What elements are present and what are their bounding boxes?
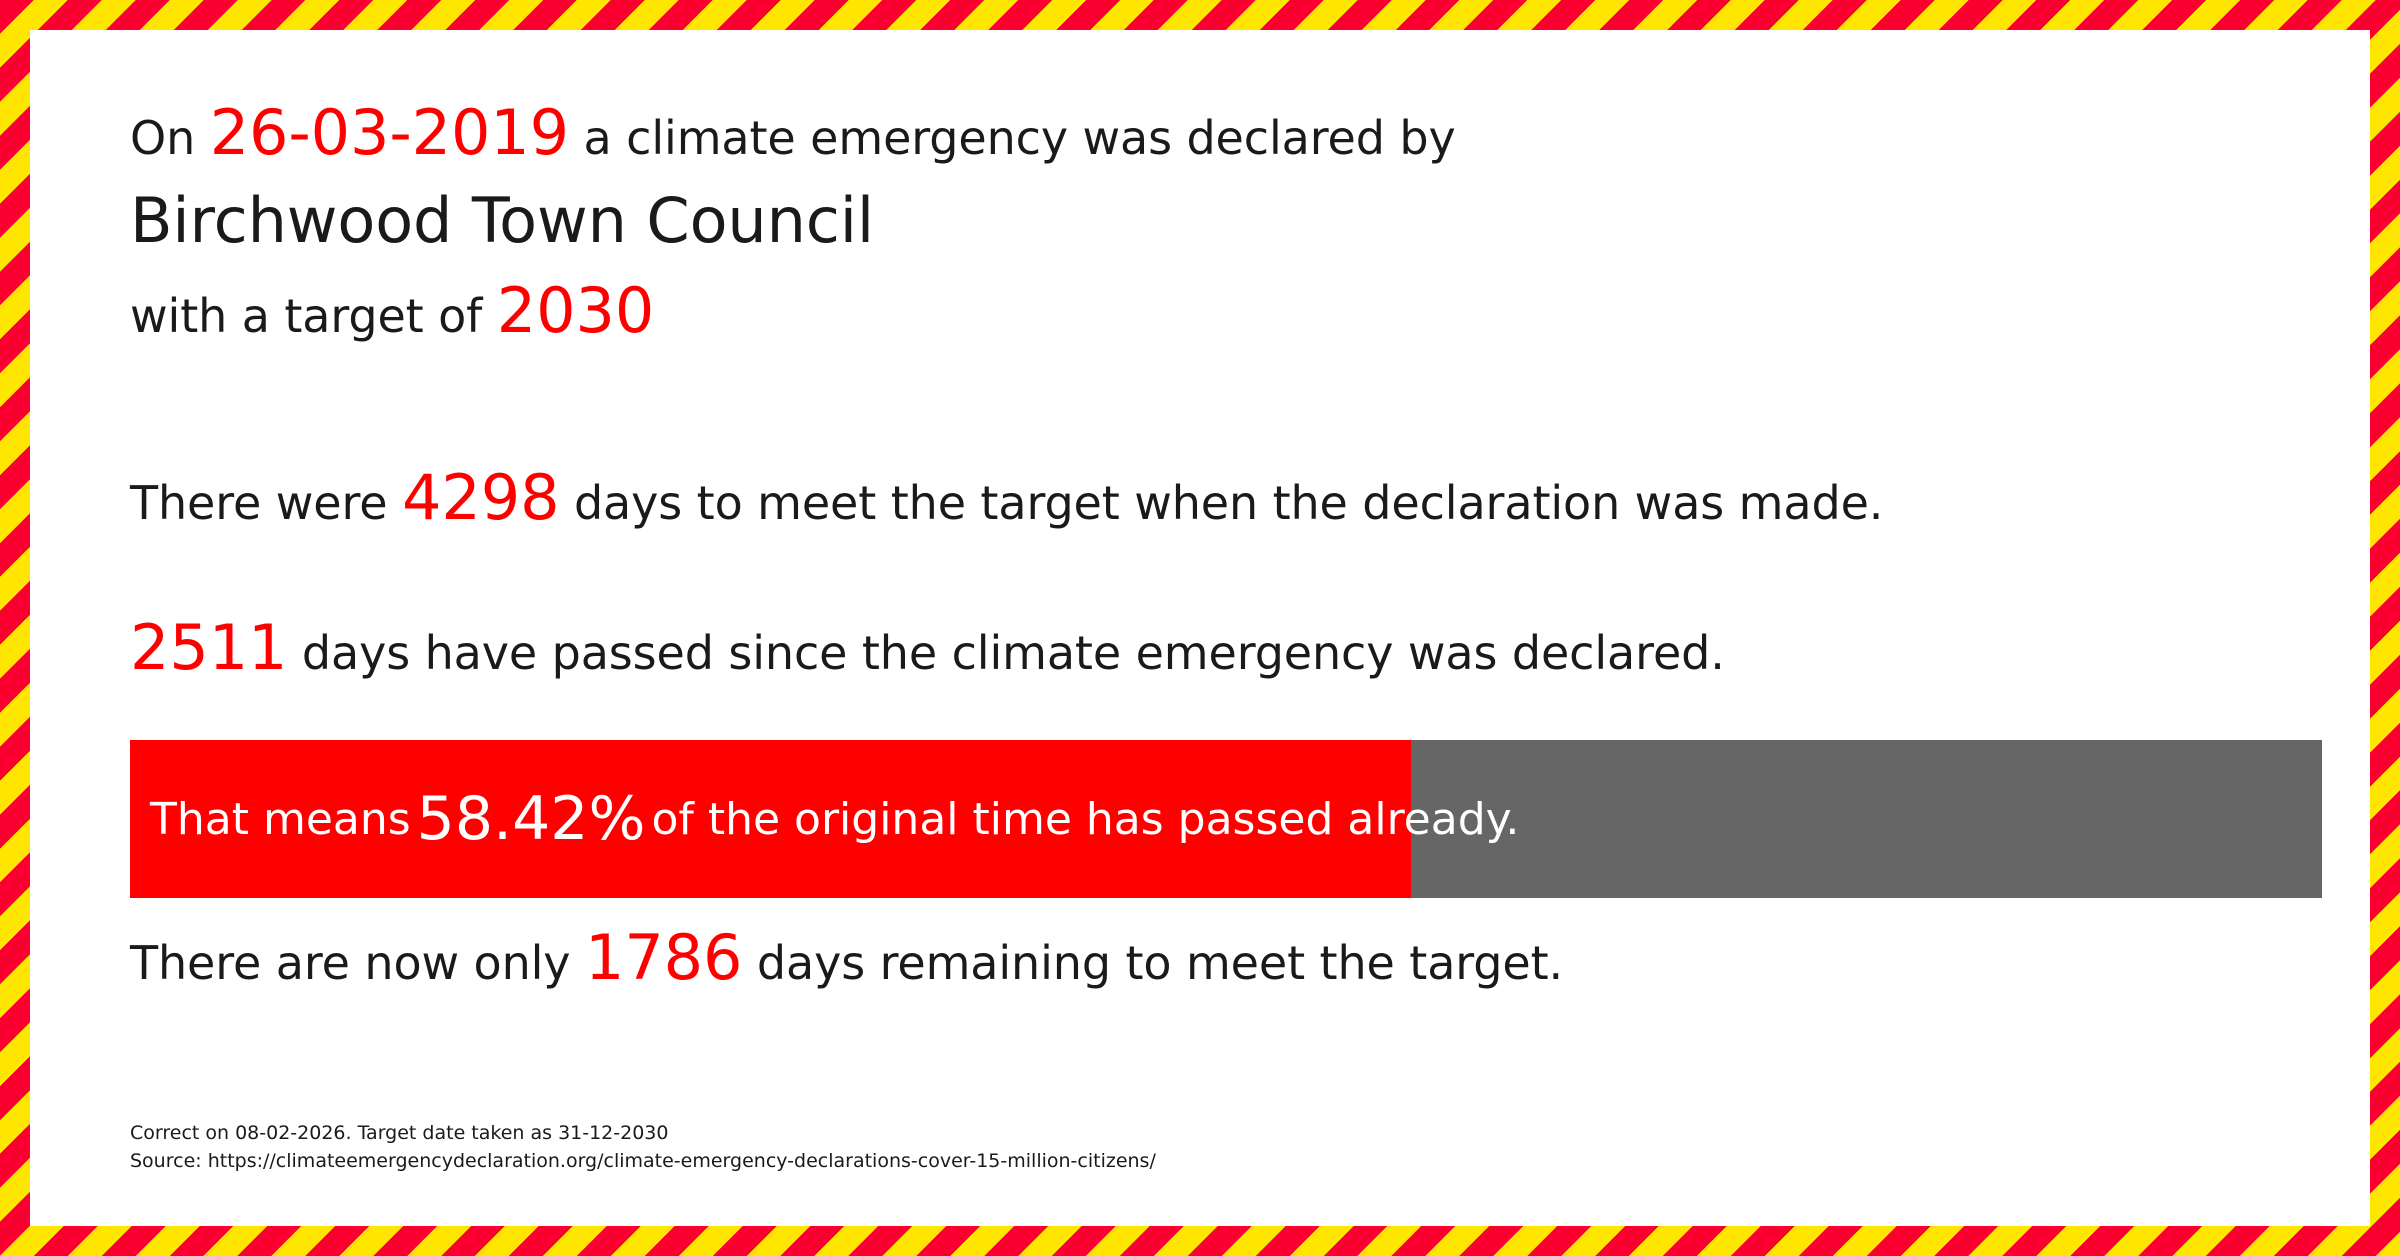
progress-bar-label: That means 58.42% of the original time h… [150, 740, 1519, 898]
original-days-suffix: days to meet the target when the declara… [559, 476, 1883, 530]
footer: Correct on 08-02-2026. Target date taken… [130, 1120, 1156, 1175]
footer-correct-on: Correct on 08-02-2026. Target date taken… [130, 1120, 1156, 1148]
footer-source: Source: https://climateemergencydeclarat… [130, 1148, 1156, 1176]
days-passed-line: 2511 days have passed since the climate … [130, 617, 1725, 679]
declaration-date: 26-03-2019 [210, 96, 569, 169]
declaration-prefix: On [130, 111, 210, 165]
days-remaining-value: 1786 [585, 921, 742, 994]
original-days-prefix: There were [130, 476, 402, 530]
days-passed-suffix: days have passed since the climate emerg… [287, 626, 1724, 680]
poster-card: On 26-03-2019 a climate emergency was de… [30, 30, 2370, 1226]
hazard-border-frame: On 26-03-2019 a climate emergency was de… [0, 0, 2400, 1256]
progress-suffix: of the original time has passed already. [651, 794, 1519, 845]
declaration-headline: On 26-03-2019 a climate emergency was de… [130, 102, 1456, 164]
target-year: 2030 [497, 274, 654, 347]
days-remaining-line: There are now only 1786 days remaining t… [130, 927, 1563, 989]
original-days-line: There were 4298 days to meet the target … [130, 467, 1883, 529]
days-passed-value: 2511 [130, 611, 287, 684]
target-line: with a target of 2030 [130, 280, 654, 342]
target-prefix: with a target of [130, 289, 497, 343]
declaration-suffix: a climate emergency was declared by [569, 111, 1456, 165]
days-remaining-prefix: There are now only [130, 936, 585, 990]
progress-percent: 58.42% [411, 784, 652, 854]
original-days-value: 4298 [402, 461, 559, 534]
days-remaining-suffix: days remaining to meet the target. [742, 936, 1563, 990]
council-name: Birchwood Town Council [130, 190, 874, 252]
progress-prefix: That means [150, 794, 411, 845]
progress-bar: That means 58.42% of the original time h… [130, 740, 2322, 898]
